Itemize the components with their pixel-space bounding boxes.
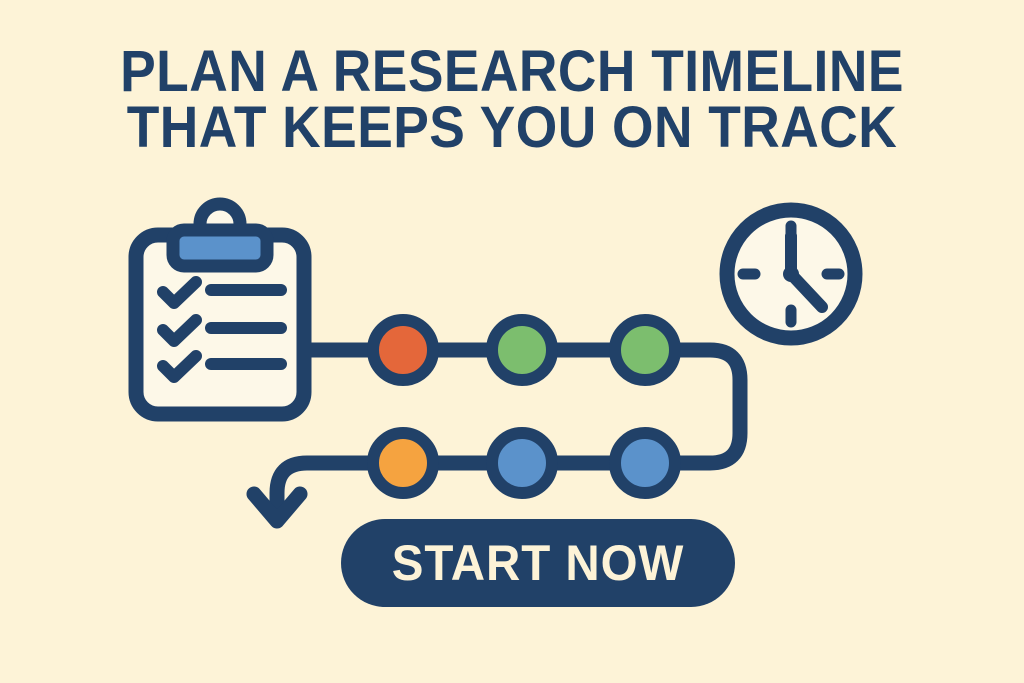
timeline-node-3[interactable]	[615, 320, 675, 380]
clock-center-dot	[783, 266, 799, 282]
poster-canvas: PLAN A RESEARCH TIMELINE THAT KEEPS YOU …	[0, 0, 1024, 683]
timeline-node-4[interactable]	[373, 433, 433, 493]
start-now-button[interactable]: START NOW	[341, 519, 735, 607]
timeline-node-2[interactable]	[492, 320, 552, 380]
timeline-node-1[interactable]	[373, 320, 433, 380]
clipboard-clip-bar	[173, 230, 267, 266]
clock-icon	[727, 210, 855, 338]
timeline-node-5[interactable]	[492, 433, 552, 493]
clipboard-icon	[136, 204, 304, 414]
start-now-button-label: START NOW	[392, 534, 685, 592]
track-segment-u-turn-right	[676, 350, 740, 463]
timeline-node-6[interactable]	[615, 433, 675, 493]
